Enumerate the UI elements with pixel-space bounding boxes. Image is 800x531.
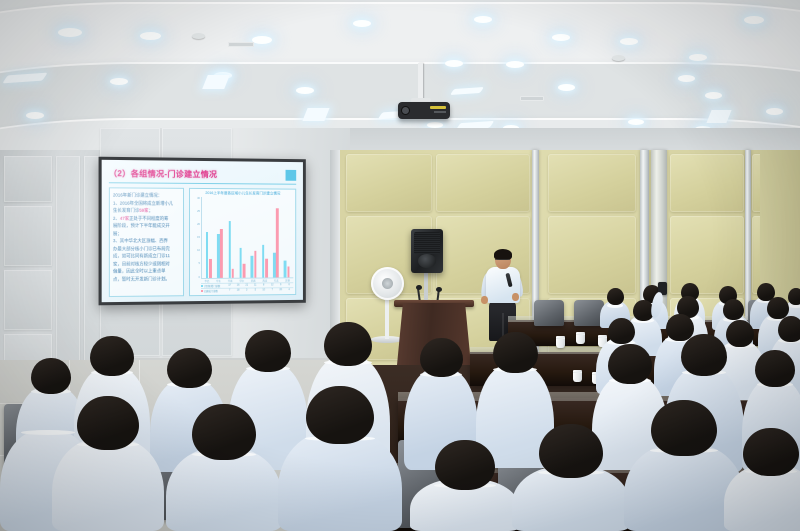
- slide-text-line: 3、其中华北大区涨幅、西界: [113, 237, 180, 245]
- slide-divider: [109, 182, 296, 184]
- chart-table-cell: 6: [285, 283, 293, 287]
- ceiling-projector: [398, 102, 450, 119]
- audience-torso: [166, 448, 282, 531]
- projection-screen: （2）各组情况-门诊建立情况 2016年新门诊建立情况： 1、2016年全国将成…: [102, 160, 303, 302]
- chart-bar: [232, 269, 235, 277]
- chart-data-table: 计划新增门诊数1716211181296已建成门诊数71835107264: [201, 282, 293, 293]
- paper-cup: [573, 370, 582, 382]
- chart-table-cell: 18: [234, 289, 243, 293]
- chart-bar-group: [240, 197, 246, 277]
- projector-lens-icon: [401, 106, 410, 115]
- conference-room-photo: （2）各组情况-门诊建立情况 2016年新门诊建立情况： 1、2016年全国将成…: [0, 0, 800, 531]
- chart-bar-group: [217, 197, 223, 277]
- audience-head: [420, 338, 463, 377]
- chart-bar: [240, 248, 243, 277]
- chart-table-row-label: 已建成门诊数: [201, 289, 225, 293]
- audience-head: [77, 396, 139, 450]
- chart-bar-group: [284, 197, 290, 277]
- audience-head: [167, 348, 212, 388]
- paper-cup: [576, 332, 585, 344]
- chart-bar: [265, 258, 268, 277]
- audience-head: [435, 440, 495, 490]
- slide-text-heading: 2016年新门诊建立情况：: [113, 191, 180, 199]
- audience-head: [90, 336, 134, 376]
- audience-member: [52, 396, 164, 531]
- audience-member: [724, 428, 800, 531]
- speaker-woofer-icon: [418, 254, 436, 268]
- fan-hub-icon: [382, 278, 393, 289]
- audience-head: [493, 332, 538, 373]
- chart-bar-group: [228, 197, 234, 277]
- chart-table-cell: 12: [268, 283, 276, 287]
- downlight-icon: [474, 16, 492, 23]
- chart-bar-group: [273, 197, 279, 277]
- smoke-detector-icon: [192, 33, 205, 39]
- audience-torso: [278, 431, 402, 531]
- downlight-icon: [252, 36, 272, 44]
- chart-table-cell: 3: [242, 289, 251, 293]
- downlight-icon: [26, 112, 44, 119]
- audience-head: [681, 334, 727, 376]
- slide-text-line: 成，如可比同有新成立门诊11: [113, 252, 180, 260]
- chart-table-row: 已建成门诊数71835107264: [201, 287, 293, 293]
- chart-bar: [287, 266, 290, 277]
- slide-chart-panel: 2016上半年度各区域小儿生长发育门诊建立情况 302520151050 华北华…: [189, 188, 296, 296]
- chart-table-cell: 9: [276, 283, 284, 287]
- slide-text-line: 2、47家正处于不同程度的筹: [113, 214, 180, 222]
- slide-text-panel: 2016年新门诊建立情况： 1、2016年全国将成立新增小儿生长发育门诊59家；…: [109, 187, 184, 297]
- downlight-icon: [140, 32, 161, 40]
- downlight-icon: [689, 54, 707, 61]
- audience-member: [166, 404, 282, 531]
- downlight-icon: [110, 78, 128, 85]
- chart-bar: [276, 208, 279, 277]
- microphone-head-icon: [436, 287, 442, 292]
- air-vent: [520, 96, 544, 101]
- chart-table-cell: 8: [260, 283, 268, 287]
- audience-head: [324, 322, 372, 366]
- slide-text-line: 点，暂时无开发新门诊计划。: [113, 275, 180, 283]
- chair: [534, 300, 564, 326]
- chart-table-cell: 26: [276, 288, 284, 292]
- downlight-icon: [744, 16, 764, 24]
- chart-bar: [220, 229, 223, 277]
- chart-table-cell: 11: [251, 284, 260, 288]
- presenter-left-hand: [481, 296, 488, 304]
- projector-mount-pole: [418, 63, 423, 101]
- downlight-icon: [705, 92, 722, 99]
- downlight-icon: [506, 61, 524, 68]
- pa-speaker: [411, 229, 443, 273]
- downlight-icon: [353, 20, 371, 27]
- chart-table-cell: 17: [225, 284, 234, 288]
- smoke-detector-icon: [612, 55, 625, 61]
- presenter-right-hand: [512, 293, 519, 301]
- chart-bar-group: [206, 197, 212, 278]
- downlight-icon: [445, 60, 463, 67]
- chart-y-tick: 0: [192, 276, 200, 279]
- chart-y-tick: 15: [192, 236, 200, 239]
- audience-head: [608, 344, 652, 384]
- slide-text-line: 展；: [113, 230, 180, 238]
- audience-member: [278, 386, 402, 531]
- chart-y-tick: 20: [192, 223, 200, 226]
- audience-head: [608, 318, 635, 344]
- chart-bar: [254, 250, 257, 277]
- audience-head: [31, 358, 71, 394]
- chart-bar: [243, 264, 246, 277]
- downlight-icon: [296, 87, 314, 94]
- audience-head: [755, 350, 795, 387]
- chart-table-cell: 21: [242, 284, 251, 288]
- chart-table-cell: 7: [225, 289, 234, 293]
- chart-bar: [206, 232, 209, 278]
- audience-head: [778, 316, 800, 342]
- paper-cup: [556, 336, 565, 348]
- downlight-icon: [620, 38, 638, 45]
- chart-y-axis: 302520151050: [192, 197, 201, 279]
- chart-table-cell: 10: [260, 288, 268, 292]
- chart-title: 2016上半年度各区域小儿生长发育门诊建立情况: [192, 191, 293, 196]
- chart-bar-group: [251, 197, 257, 277]
- audience-head: [743, 428, 799, 476]
- chart-bar: [217, 234, 220, 277]
- audience-head: [723, 299, 744, 320]
- chart-table-row-label: 计划新增门诊数: [201, 284, 225, 288]
- slide-title: （2）各组情况-门诊建立情况: [109, 167, 217, 179]
- projector-vent: [434, 111, 446, 113]
- chart-table-cell: 4: [285, 288, 293, 292]
- chart-y-tick: 30: [192, 197, 200, 200]
- slide-text-line: 展阶段，预计下半年能成交开: [113, 222, 180, 230]
- chart-bar: [228, 221, 231, 277]
- chart-plot-area: [201, 197, 293, 279]
- audience-member: [512, 424, 630, 531]
- chart-bar-group: [262, 197, 268, 277]
- chart-bar: [209, 259, 212, 278]
- audience-torso: [52, 438, 164, 531]
- audience-head: [539, 424, 603, 478]
- audience-head: [245, 330, 291, 372]
- chart-table-row: 计划新增门诊数1716211181296: [201, 282, 293, 288]
- downlight-icon: [628, 119, 644, 125]
- speaker-grille: [414, 232, 440, 254]
- presentation-slide: （2）各组情况-门诊建立情况 2016年新门诊建立情况： 1、2016年全国将成…: [102, 160, 303, 302]
- projector-label-strip: [430, 106, 446, 109]
- chart-bar: [251, 256, 254, 277]
- audience-member: [410, 440, 520, 531]
- projection-screen-frame: （2）各组情况-门诊建立情况 2016年新门诊建立情况： 1、2016年全国将成…: [99, 157, 306, 306]
- chart-bar: [284, 261, 287, 277]
- microphone-head-icon: [416, 285, 422, 290]
- chart-y-tick: 5: [192, 262, 200, 265]
- chart-y-tick: 25: [192, 210, 200, 213]
- chart-table-cell: 7: [268, 288, 276, 292]
- audience-head: [651, 400, 717, 456]
- downlight-icon: [678, 75, 695, 82]
- chart-bar: [273, 253, 276, 277]
- downlight-icon: [552, 34, 570, 41]
- chart-bar: [262, 245, 265, 277]
- air-vent: [228, 42, 254, 47]
- audience-head: [306, 386, 374, 444]
- downlight-icon: [766, 108, 783, 115]
- slide-text-line: 生长发育门诊59家；: [113, 207, 180, 215]
- downlight-icon: [558, 84, 575, 91]
- slide-title-accent-block: [286, 169, 297, 180]
- audience-head: [607, 288, 624, 305]
- slide-text-lines: 1、2016年全国将成立新增小儿生长发育门诊59家；2、47家正处于不同程度的筹…: [113, 199, 180, 283]
- eyeglasses-icon: [495, 257, 510, 260]
- chart-y-tick: 10: [192, 249, 200, 252]
- downlight-icon: [58, 28, 82, 37]
- pedestal-fan: [371, 267, 404, 300]
- chart-table-cell: 5: [251, 288, 260, 292]
- audience-head: [192, 404, 256, 460]
- chart-table-cell: 16: [234, 284, 243, 288]
